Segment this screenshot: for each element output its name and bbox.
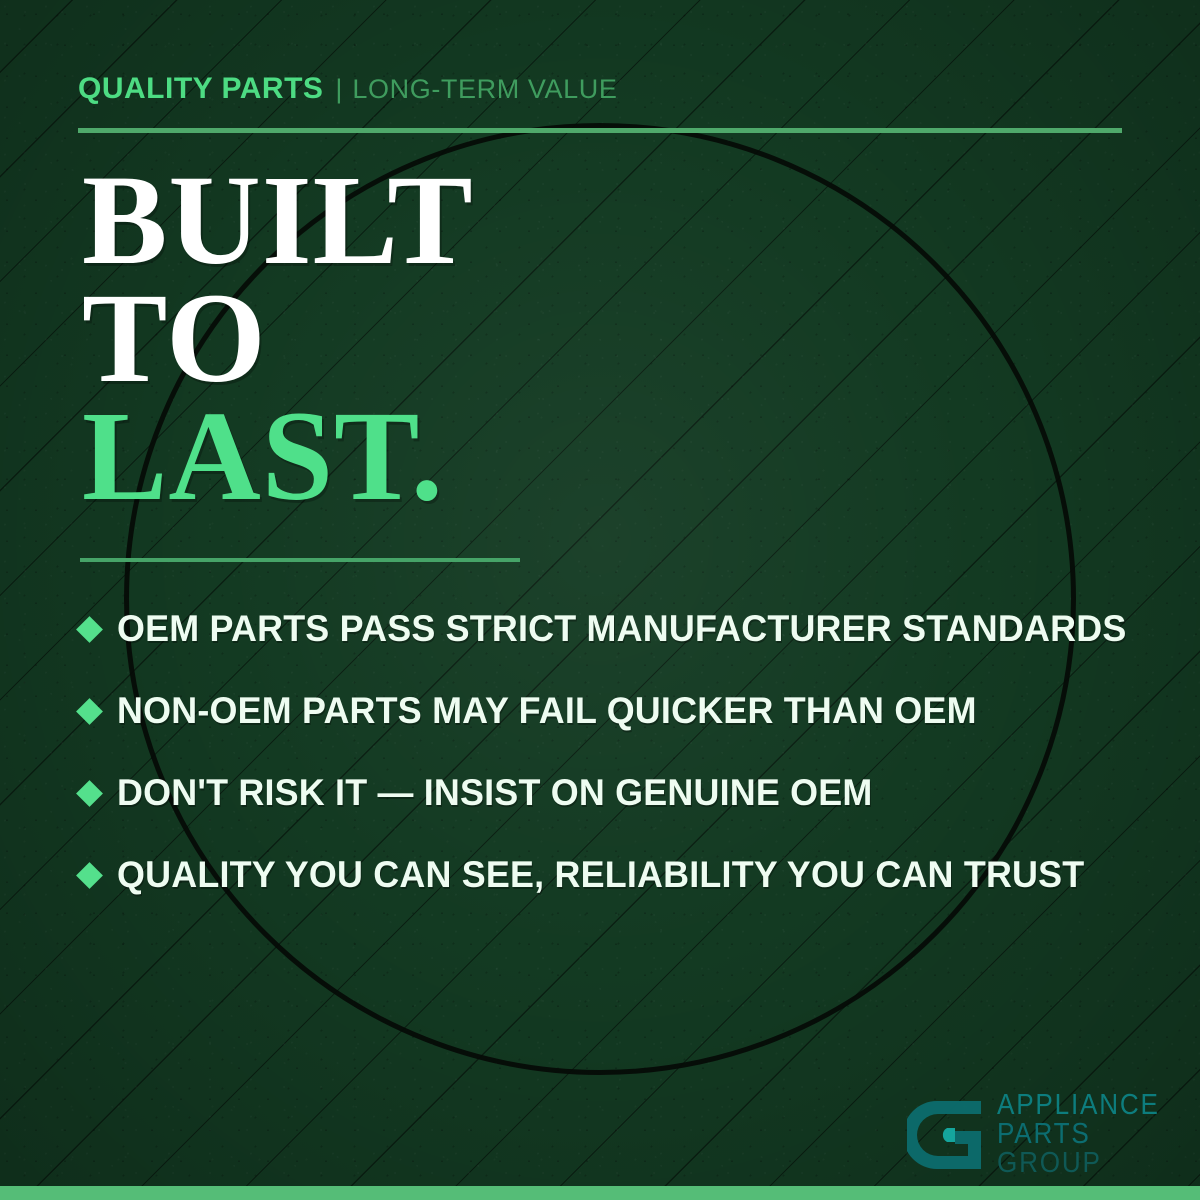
headline-divider-rule xyxy=(80,558,520,562)
eyebrow-sub-text: LONG-TERM VALUE xyxy=(352,74,617,105)
list-item: NON-OEM PARTS MAY FAIL QUICKER THAN OEM xyxy=(80,670,1140,752)
list-item: OEM PARTS PASS STRICT MANUFACTURER STAND… xyxy=(80,588,1140,670)
list-item: DON'T RISK IT — INSIST ON GENUINE OEM xyxy=(80,752,1140,834)
list-item: QUALITY YOU CAN SEE, RELIABILITY YOU CAN… xyxy=(80,834,1140,916)
logo-wordmark: APPLIANCE PARTS GROUP xyxy=(997,1091,1178,1178)
logo-word-parts: PARTS xyxy=(997,1120,1160,1149)
poster-canvas: QUALITY PARTS | LONG-TERM VALUE BUILT TO… xyxy=(0,0,1200,1200)
header-divider-rule xyxy=(78,128,1122,133)
headline-block: BUILT TO LAST. xyxy=(82,162,474,515)
list-item-label: QUALITY YOU CAN SEE, RELIABILITY YOU CAN… xyxy=(117,854,1084,896)
brand-logo: APPLIANCE PARTS GROUP xyxy=(907,1091,1178,1178)
diamond-bullet-icon xyxy=(76,780,103,807)
benefits-list: OEM PARTS PASS STRICT MANUFACTURER STAND… xyxy=(80,588,1140,916)
eyebrow-main-text: QUALITY PARTS xyxy=(78,72,323,106)
list-item-label: OEM PARTS PASS STRICT MANUFACTURER STAND… xyxy=(117,608,1126,650)
diamond-bullet-icon xyxy=(76,616,103,643)
letter-g-logo-icon xyxy=(907,1095,987,1175)
headline-line-1: BUILT xyxy=(82,162,474,280)
logo-word-appliance: APPLIANCE xyxy=(997,1091,1160,1120)
logo-word-group: GROUP xyxy=(997,1149,1160,1178)
bottom-accent-bar xyxy=(0,1186,1200,1200)
eyebrow-separator: | xyxy=(323,74,352,105)
list-item-label: DON'T RISK IT — INSIST ON GENUINE OEM xyxy=(117,772,872,814)
eyebrow-heading: QUALITY PARTS | LONG-TERM VALUE xyxy=(78,72,617,106)
headline-line-3: LAST. xyxy=(82,398,474,516)
headline-line-2: TO xyxy=(82,280,474,398)
list-item-label: NON-OEM PARTS MAY FAIL QUICKER THAN OEM xyxy=(117,690,977,732)
diamond-bullet-icon xyxy=(76,698,103,725)
diamond-bullet-icon xyxy=(76,862,103,889)
